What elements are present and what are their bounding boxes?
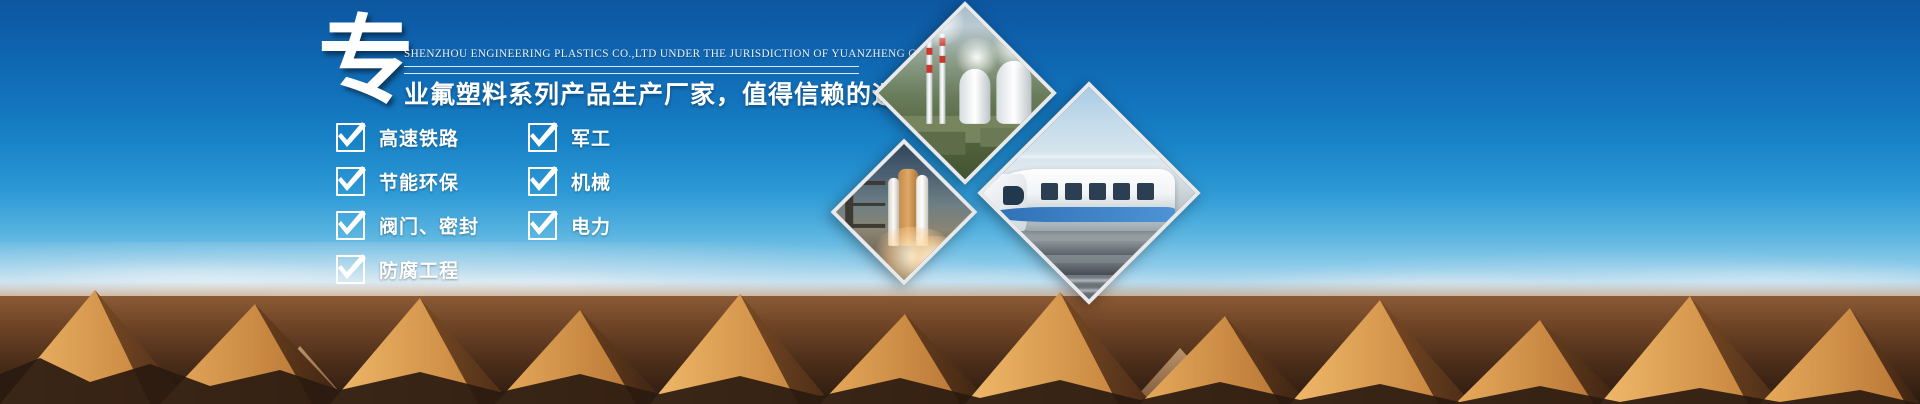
checklist-item[interactable]: 电力 (528, 208, 611, 242)
check-icon (528, 167, 557, 196)
checklist-item[interactable]: 军工 (528, 120, 611, 154)
checklist-item-label: 电力 (571, 212, 611, 239)
checklist-item-label: 节能环保 (379, 168, 459, 195)
checklist-item[interactable]: 防腐工程 (336, 252, 479, 286)
checklist-column-right: 军工 机械 电力 (528, 120, 611, 252)
checklist-item[interactable]: 节能环保 (336, 164, 479, 198)
check-icon (336, 167, 365, 196)
logo-character: 专 (318, 14, 414, 110)
promo-banner: 专 SHENZHOU ENGINEERING PLASTICS CO.,LTD … (0, 0, 1920, 404)
checklist-item-label: 军工 (571, 124, 611, 151)
checklist-item[interactable]: 机械 (528, 164, 611, 198)
checklist-item-label: 高速铁路 (379, 124, 459, 151)
checklist-column-left: 高速铁路 节能环保 阀门、密封 防腐工程 (336, 120, 479, 296)
check-icon (336, 255, 365, 284)
check-icon (528, 123, 557, 152)
check-icon (528, 211, 557, 240)
checklist-item[interactable]: 高速铁路 (336, 120, 479, 154)
photo-collage (820, 20, 1240, 280)
checklist-item-label: 阀门、密封 (379, 212, 479, 239)
check-icon (336, 123, 365, 152)
double-rule-divider (404, 66, 859, 74)
check-icon (336, 211, 365, 240)
checklist-item-label: 防腐工程 (379, 256, 459, 283)
checklist-item-label: 机械 (571, 168, 611, 195)
checklist-item[interactable]: 阀门、密封 (336, 208, 479, 242)
